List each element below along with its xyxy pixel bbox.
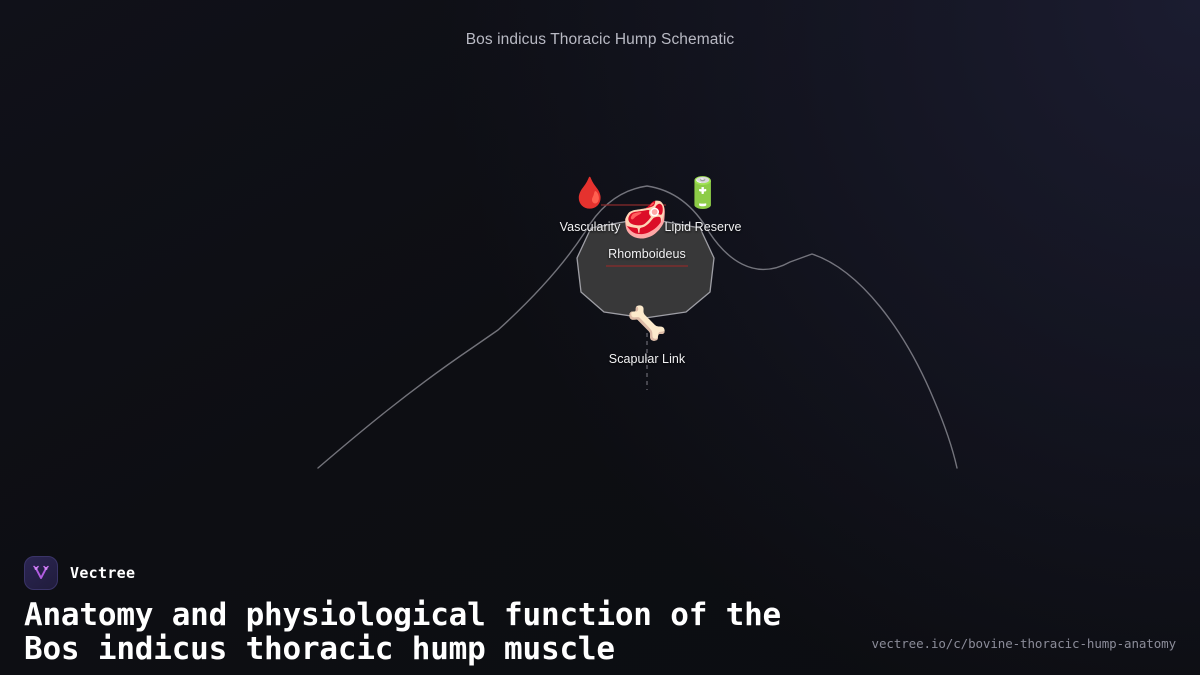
node-label-scapular-link: Scapular Link	[609, 352, 685, 366]
footer: Vectree Anatomy and physiological functi…	[0, 520, 1200, 675]
node-label-vascularity: Vascularity	[560, 220, 621, 234]
node-label-lipid-reserve: Lipid Reserve	[664, 220, 741, 234]
battery-icon: 🔋	[684, 179, 721, 209]
brand-row: Vectree	[24, 556, 135, 590]
blood-drop-icon: 🩸	[571, 179, 608, 209]
node-label-rhomboideus: Rhomboideus	[608, 247, 686, 261]
diagram-svg	[0, 0, 1200, 520]
vectree-logo-icon	[24, 556, 58, 590]
bone-icon: 🦴	[627, 307, 667, 339]
brand-name: Vectree	[70, 564, 135, 582]
footer-url: vectree.io/c/bovine-thoracic-hump-anatom…	[872, 636, 1176, 651]
headline: Anatomy and physiological function of th…	[24, 598, 854, 666]
diagram-canvas: 🩸 🔋 🥩 🦴 Vascularity Lipid Reserve Rhombo…	[0, 0, 1200, 520]
vectree-logo-glyph	[31, 563, 51, 583]
meat-cut-icon: 🥩	[623, 202, 668, 238]
